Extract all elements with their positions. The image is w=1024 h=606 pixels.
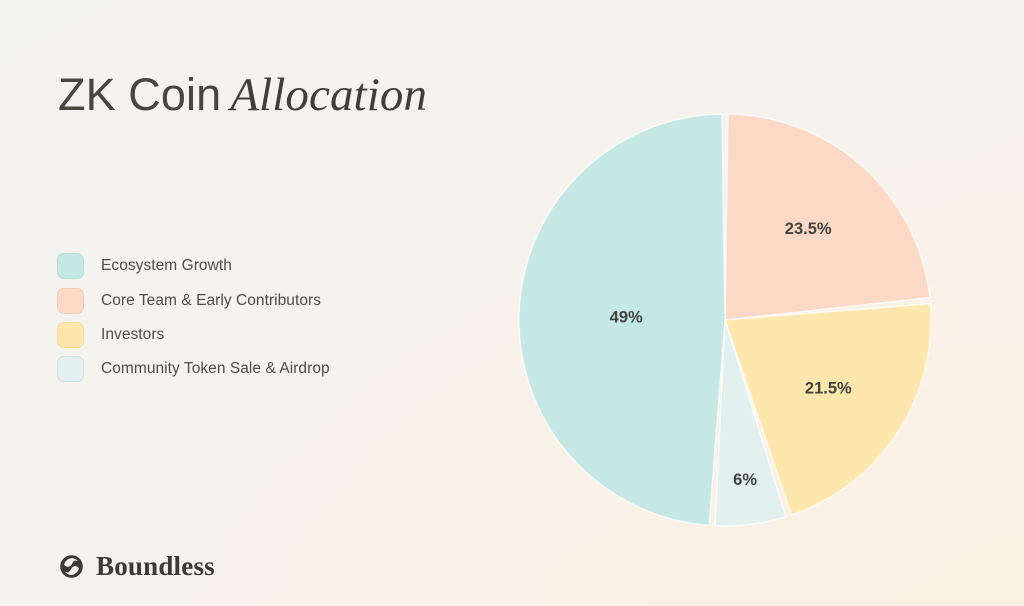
legend-swatch-icon [57,288,84,314]
legend-swatch-icon [57,356,84,382]
brand-name: Boundless [96,553,215,580]
legend-item-label: Investors [101,326,164,344]
legend-swatch-icon [57,253,84,279]
title-accent-text: Allocation [230,69,427,121]
pie-slice-value-label: 23.5% [785,220,832,238]
legend-item-investors: Investors [57,318,330,352]
pie-chart-svg: 23.5%21.5%6%49% [505,100,945,540]
pie-slice-value-label: 49% [610,308,643,326]
legend-item-core-team-early-contributors: Core Team & Early Contributors [57,283,330,317]
pie-slice[interactable] [725,114,930,320]
legend-item-community-token-sale-airdrop: Community Token Sale & Airdrop [57,352,330,386]
pie-chart: 23.5%21.5%6%49% [505,100,945,540]
pie-slice-value-label: 6% [733,471,757,489]
legend-item-label: Ecosystem Growth [101,257,232,275]
legend-swatch-icon [57,322,84,348]
brand-logo: Boundless [58,553,215,580]
title-main-text: ZK Coin [58,69,221,120]
legend-item-label: Core Team & Early Contributors [101,292,321,310]
pie-slice-value-label: 21.5% [805,379,852,397]
pie-slice-group [519,114,931,526]
legend-item-ecosystem-growth: Ecosystem Growth [57,249,330,283]
page-title: ZK CoinAllocation [58,66,427,124]
slide-canvas: ZK CoinAllocation Ecosystem Growth Core … [0,0,1024,606]
boundless-swirl-icon [58,553,85,580]
chart-legend: Ecosystem Growth Core Team & Early Contr… [57,249,330,387]
legend-item-label: Community Token Sale & Airdrop [101,360,330,378]
